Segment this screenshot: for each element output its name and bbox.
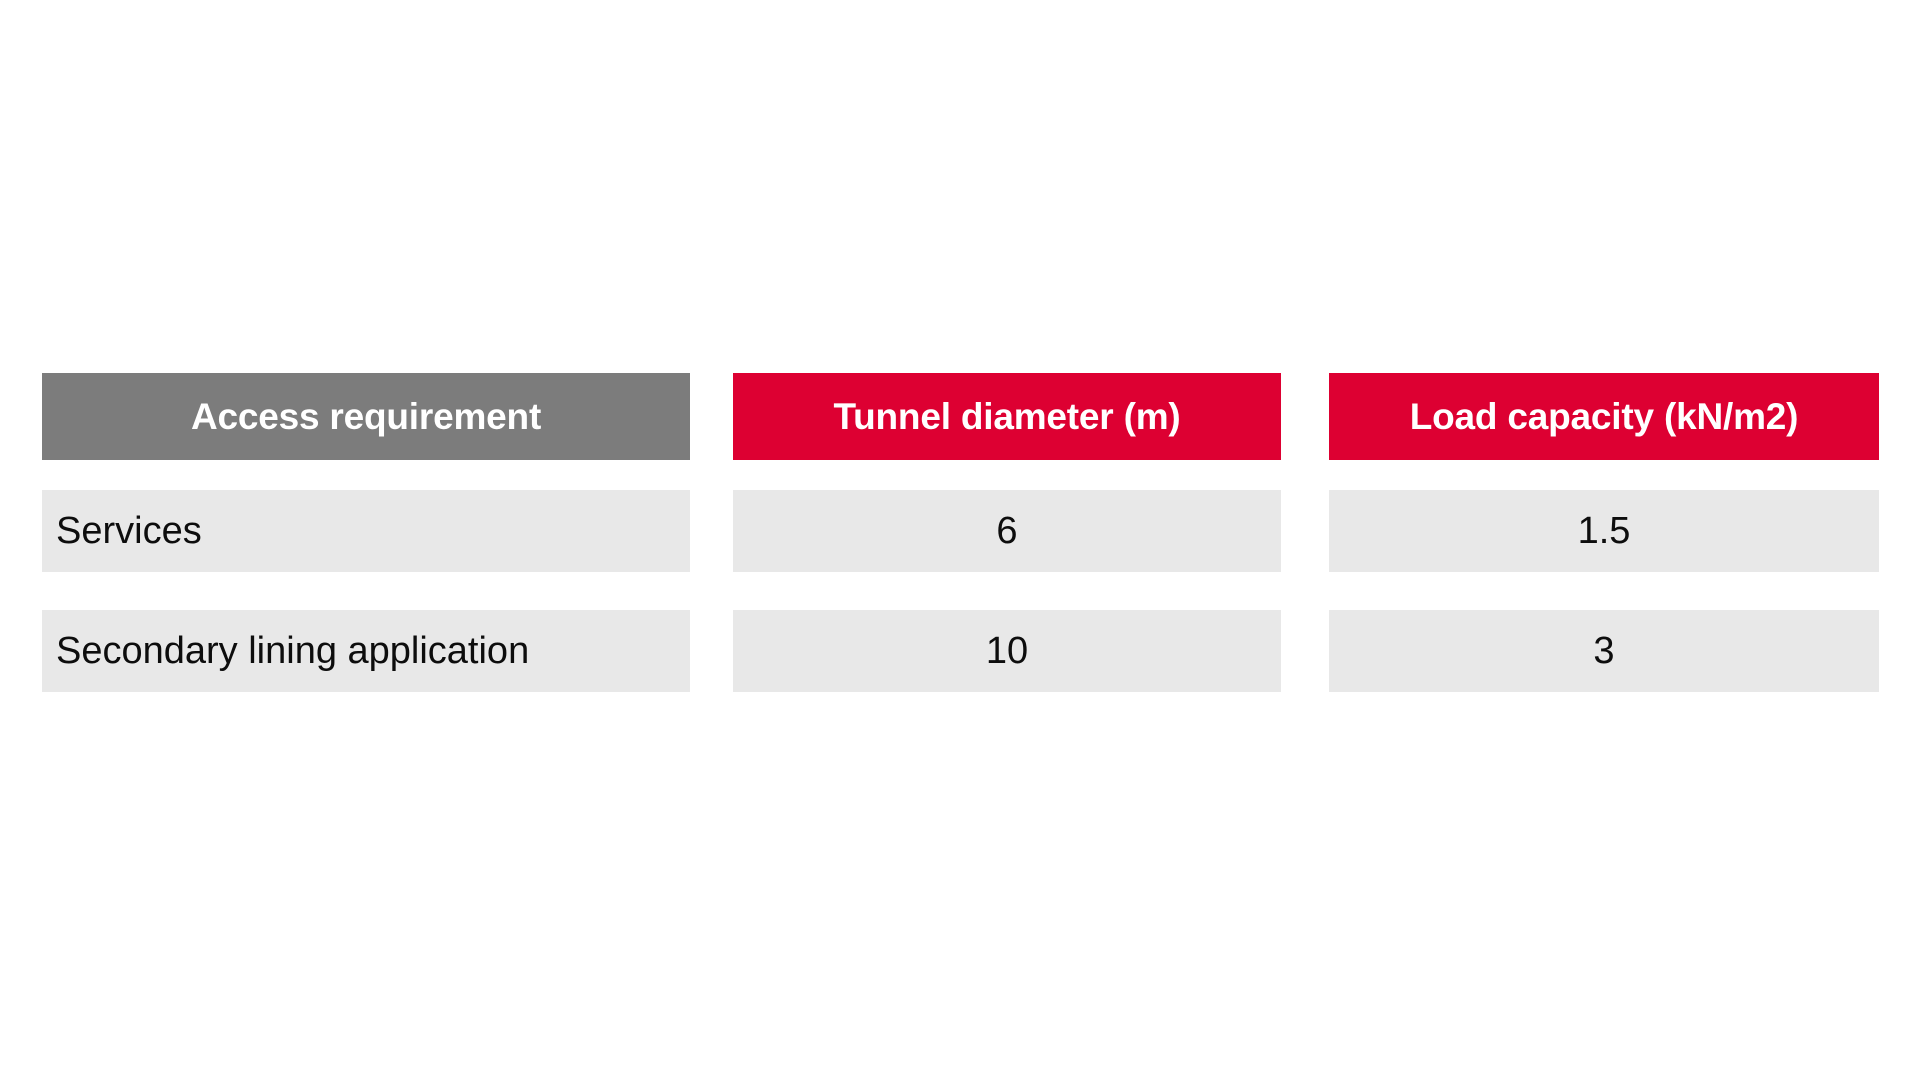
table-cell-value: 3 xyxy=(1593,632,1614,670)
table-header-cell-access-requirement: Access requirement xyxy=(42,373,690,460)
table-header-label: Tunnel diameter (m) xyxy=(833,398,1180,435)
table-cell-value: Services xyxy=(56,512,202,550)
table-cell-load-capacity: 1.5 xyxy=(1329,490,1879,572)
table-header-cell-load-capacity: Load capacity (kN/m2) xyxy=(1329,373,1879,460)
table-cell-value: 10 xyxy=(986,632,1028,670)
table-header-row: Access requirement Tunnel diameter (m) L… xyxy=(42,373,1879,460)
table-cell-tunnel-diameter: 10 xyxy=(733,610,1281,692)
table-cell-value: 6 xyxy=(996,512,1017,550)
table-cell-value: 1.5 xyxy=(1578,512,1631,550)
table-row: Secondary lining application 10 3 xyxy=(42,610,1879,692)
table-cell-value: Secondary lining application xyxy=(56,632,529,670)
table-cell-access-requirement: Secondary lining application xyxy=(42,610,690,692)
table-header-cell-tunnel-diameter: Tunnel diameter (m) xyxy=(733,373,1281,460)
table-header-label: Load capacity (kN/m2) xyxy=(1410,398,1799,435)
table-row: Services 6 1.5 xyxy=(42,490,1879,572)
table-cell-tunnel-diameter: 6 xyxy=(733,490,1281,572)
access-requirement-table: Access requirement Tunnel diameter (m) L… xyxy=(42,373,1879,692)
table-header-label: Access requirement xyxy=(191,398,541,435)
table-cell-load-capacity: 3 xyxy=(1329,610,1879,692)
table-cell-access-requirement: Services xyxy=(42,490,690,572)
slide-canvas: Access requirement Tunnel diameter (m) L… xyxy=(0,0,1920,1080)
